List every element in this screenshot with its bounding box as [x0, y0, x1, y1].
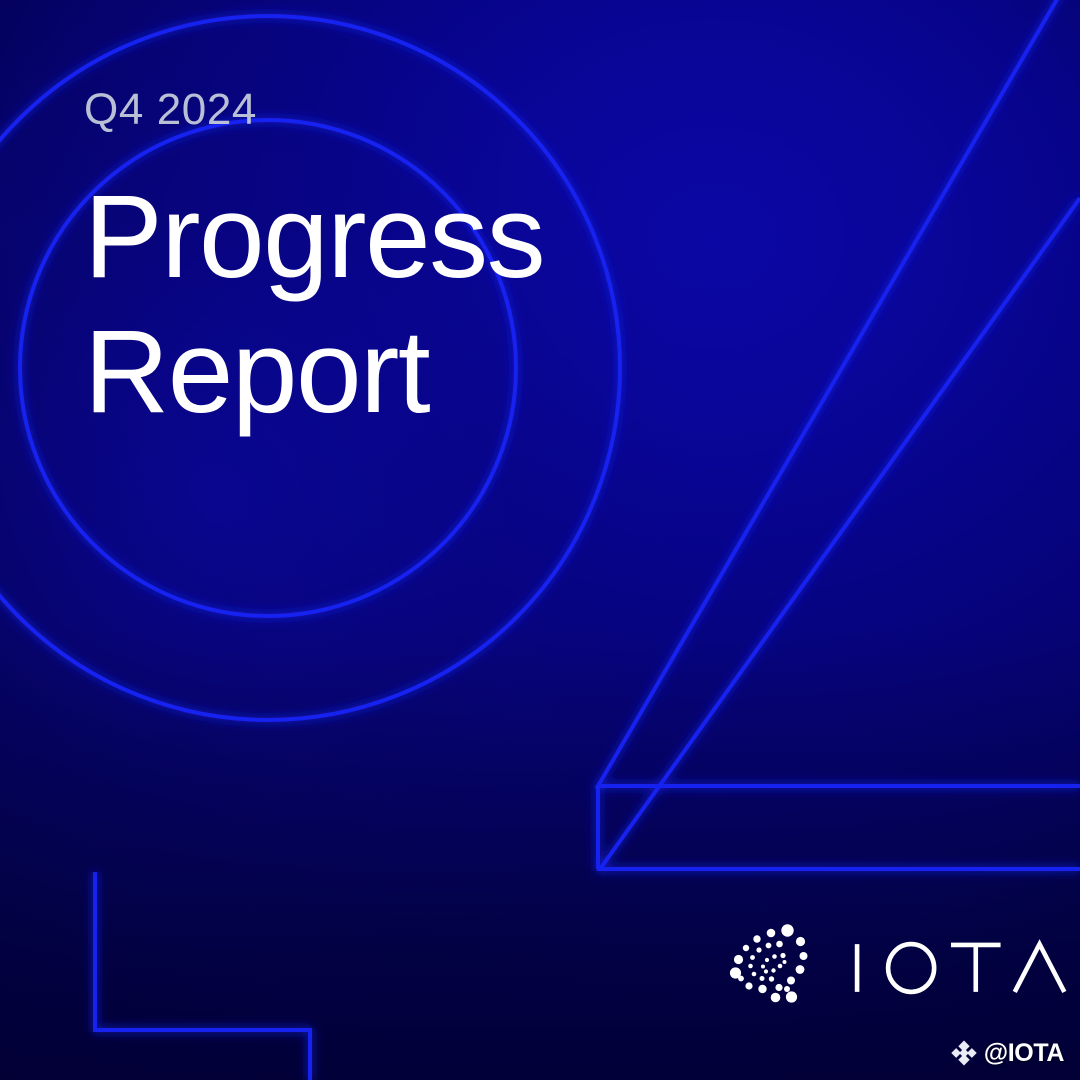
iota-wordmark	[850, 937, 1071, 999]
binance-diamond-icon	[951, 1040, 977, 1066]
watermark-handle: @IOTA	[984, 1041, 1064, 1066]
poster-canvas: Q4 2024 Progress Report	[0, 0, 1080, 1080]
iota-dot-swirl-icon	[724, 918, 824, 1018]
title-block: Q4 2024 Progress Report	[84, 88, 784, 439]
iota-brand-lockup	[724, 918, 1071, 1018]
page-title: Progress Report	[84, 170, 784, 439]
source-watermark: @IOTA	[951, 1040, 1064, 1066]
report-period-label: Q4 2024	[84, 88, 784, 132]
